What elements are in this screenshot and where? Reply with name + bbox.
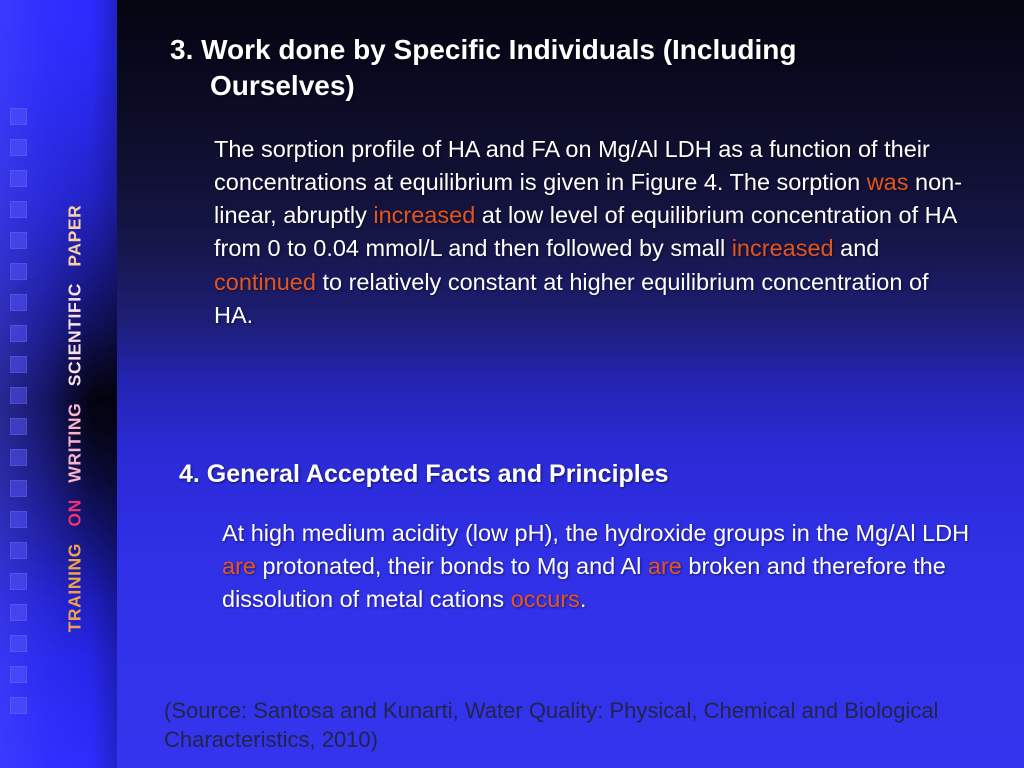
body-text-run: At high medium acidity (low pH), the hyd… xyxy=(222,520,969,546)
sidebar-title-word-on: ON xyxy=(65,499,85,526)
decorative-square xyxy=(10,325,27,342)
sidebar-title-word-scientific: SCIENTIFIC xyxy=(65,283,85,386)
body-text-run: protonated, their bonds to Mg and Al xyxy=(256,553,648,579)
decorative-square xyxy=(10,108,27,125)
decorative-square xyxy=(10,418,27,435)
section-heading-4: 4. General Accepted Facts and Principles xyxy=(179,458,939,490)
decorative-square xyxy=(10,139,27,156)
presentation-slide: TRAINING ON WRITING SCIENTIFIC PAPER 3. … xyxy=(0,0,1024,768)
highlighted-verb: are xyxy=(222,553,256,579)
decorative-square xyxy=(10,604,27,621)
sidebar-title-word-training: TRAINING xyxy=(65,543,85,632)
highlighted-verb: are xyxy=(648,553,682,579)
highlighted-verb: continued xyxy=(214,269,316,295)
spacer xyxy=(65,488,85,493)
sidebar-title-word-paper: PAPER xyxy=(65,205,85,267)
decorative-square xyxy=(10,170,27,187)
spacer xyxy=(65,532,85,537)
square-column-decoration xyxy=(10,108,28,728)
highlighted-verb: increased xyxy=(373,202,475,228)
section-body-4: At high medium acidity (low pH), the hyd… xyxy=(222,517,992,616)
body-text-run: to relatively constant at higher equilib… xyxy=(214,269,929,328)
decorative-square xyxy=(10,480,27,497)
decorative-square xyxy=(10,449,27,466)
decorative-square xyxy=(10,356,27,373)
section-heading-3: 3. Work done by Specific Individuals (In… xyxy=(170,32,930,104)
spacer xyxy=(65,392,85,397)
decorative-square xyxy=(10,232,27,249)
decorative-square xyxy=(10,666,27,683)
sidebar-vertical-title: TRAINING ON WRITING SCIENTIFIC PAPER xyxy=(65,139,86,699)
source-citation: (Source: Santosa and Kunarti, Water Qual… xyxy=(164,697,1024,754)
decorative-square xyxy=(10,201,27,218)
section-body-3: The sorption profile of HA and FA on Mg/… xyxy=(214,133,974,332)
section-heading-3-line-1: 3. Work done by Specific Individuals (In… xyxy=(170,34,796,65)
body-text-run: . xyxy=(580,586,587,612)
decorative-square xyxy=(10,697,27,714)
decorative-square xyxy=(10,263,27,280)
sidebar-title-word-writing: WRITING xyxy=(65,403,85,483)
highlighted-verb: increased xyxy=(732,235,834,261)
decorative-square xyxy=(10,294,27,311)
slide-content: 3. Work done by Specific Individuals (In… xyxy=(117,0,1024,768)
highlighted-verb: was xyxy=(867,169,909,195)
decorative-square xyxy=(10,573,27,590)
section-heading-3-line-2: Ourselves) xyxy=(170,68,930,104)
highlighted-verb: occurs xyxy=(511,586,580,612)
decorative-square xyxy=(10,635,27,652)
body-text-run: The sorption profile of HA and FA on Mg/… xyxy=(214,136,930,195)
spacer xyxy=(65,272,85,277)
decorative-square xyxy=(10,387,27,404)
decorative-square xyxy=(10,542,27,559)
decorative-square xyxy=(10,511,27,528)
body-text-run: and xyxy=(834,235,880,261)
